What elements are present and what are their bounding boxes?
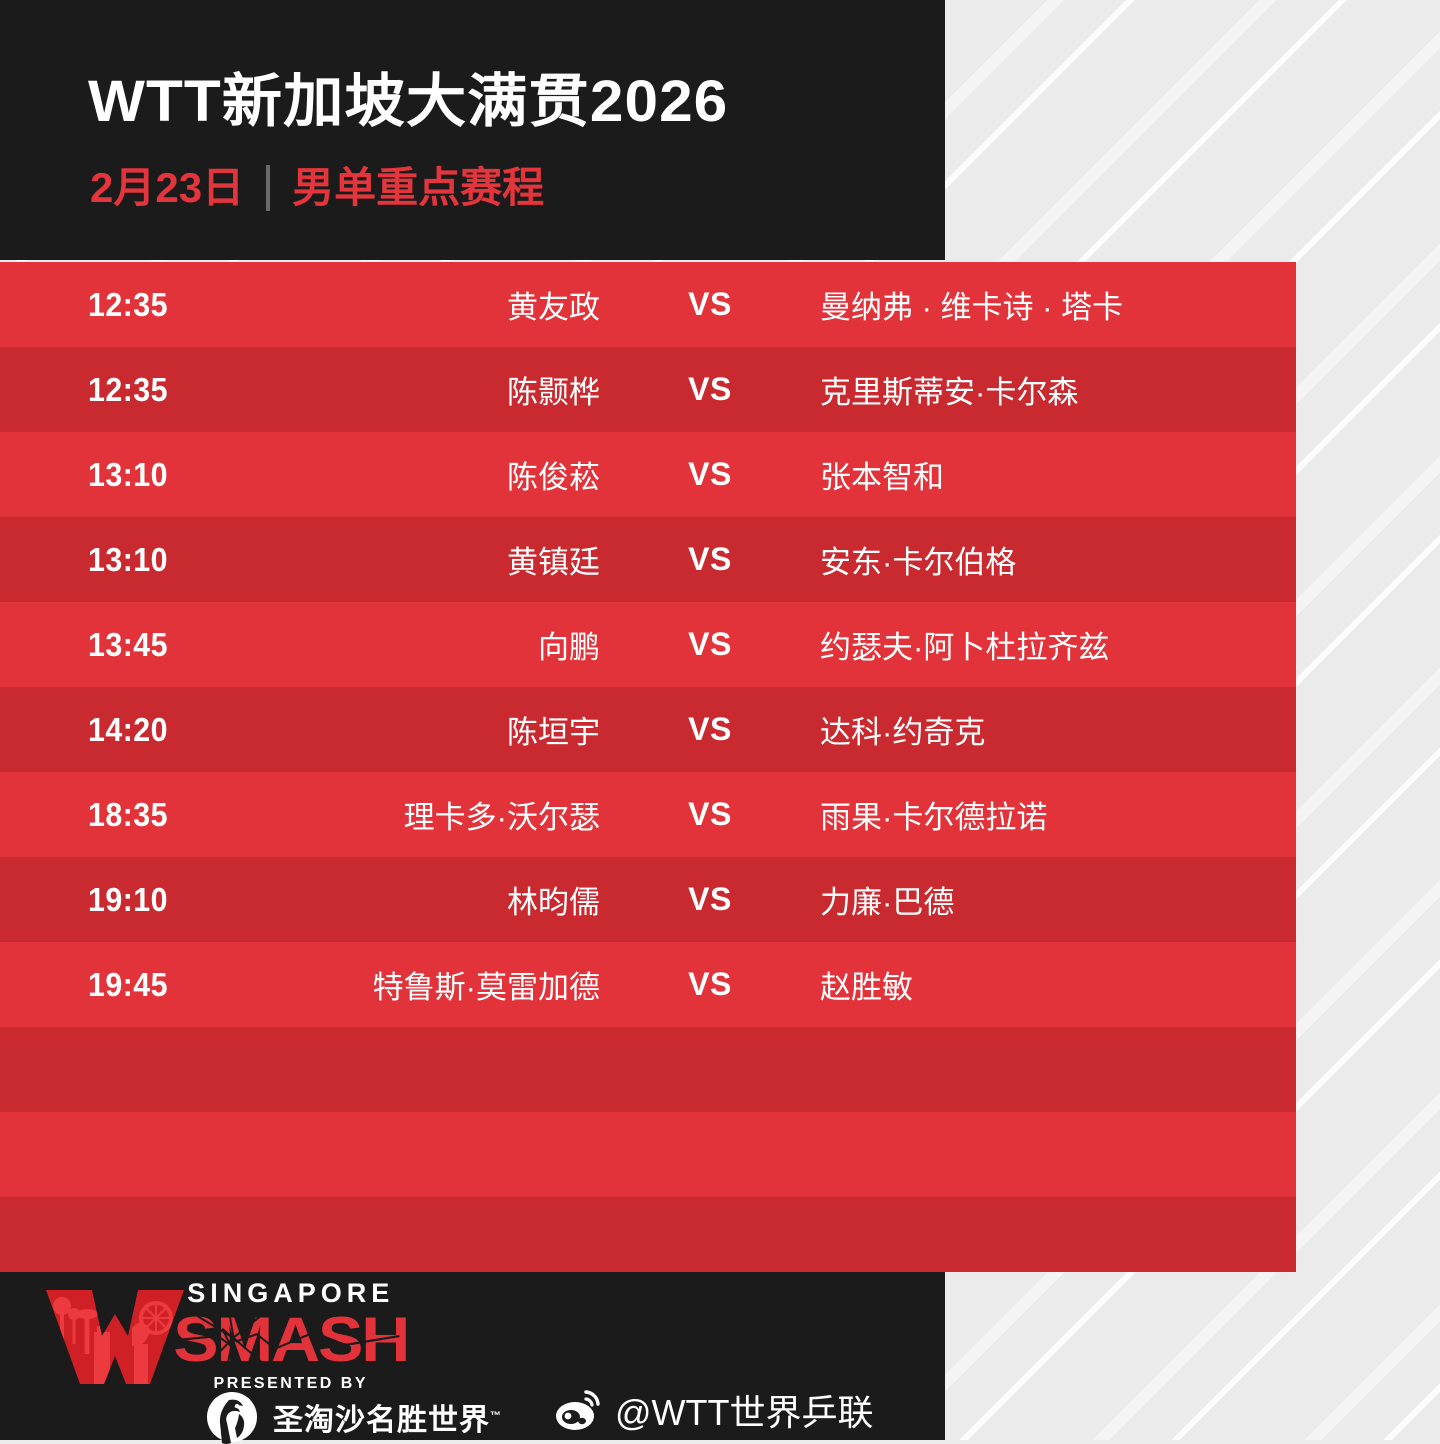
- versus-label: VS: [660, 796, 760, 833]
- schedule-panel: 12:35黄友政VS曼纳弗 · 维卡诗 · 塔卡12:35陈颢桦VS克里斯蒂安·…: [0, 262, 1296, 1272]
- empty-row: [0, 1112, 1296, 1197]
- section-label: 男单重点赛程: [292, 167, 544, 209]
- subtitle-row: 2月23日 男单重点赛程: [90, 165, 544, 211]
- empty-row: [0, 1027, 1296, 1112]
- match-row: 13:10黄镇廷VS安东·卡尔伯格: [0, 517, 1296, 602]
- sponsor-name-text: 圣淘沙名胜世界: [273, 1404, 490, 1437]
- sponsor-name: 圣淘沙名胜世界™: [273, 1395, 502, 1439]
- player-one-name: 黄友政: [200, 282, 600, 327]
- weibo-account[interactable]: @WTT世界乒联: [555, 1384, 874, 1436]
- player-two-name: 张本智和: [820, 452, 1290, 497]
- match-time: 13:10: [88, 541, 168, 579]
- versus-label: VS: [660, 881, 760, 918]
- versus-label: VS: [660, 711, 760, 748]
- player-two-name: 约瑟夫·阿卜杜拉齐兹: [820, 622, 1290, 667]
- header-banner: WTT新加坡大满贯2026 2月23日 男单重点赛程: [0, 0, 945, 260]
- versus-label: VS: [660, 456, 760, 493]
- player-one-name: 向鹏: [200, 622, 600, 667]
- player-two-name: 克里斯蒂安·卡尔森: [820, 367, 1290, 412]
- versus-label: VS: [660, 286, 760, 323]
- match-row: 12:35黄友政VS曼纳弗 · 维卡诗 · 塔卡: [0, 262, 1296, 347]
- merlion-icon: [205, 1390, 259, 1444]
- match-row: 19:45特鲁斯·莫雷加德VS赵胜敏: [0, 942, 1296, 1027]
- sponsor-logo: 圣淘沙名胜世界™: [205, 1390, 502, 1444]
- versus-label: VS: [660, 541, 760, 578]
- versus-label: VS: [660, 626, 760, 663]
- match-time: 13:10: [88, 456, 168, 494]
- player-one-name: 林昀儒: [200, 877, 600, 922]
- subtitle-divider: [266, 165, 270, 211]
- match-row: 13:10陈俊菘VS张本智和: [0, 432, 1296, 517]
- match-row: 12:35陈颢桦VS克里斯蒂安·卡尔森: [0, 347, 1296, 432]
- player-one-name: 陈俊菘: [200, 452, 600, 497]
- match-time: 18:35: [88, 796, 168, 834]
- player-two-name: 安东·卡尔伯格: [820, 537, 1290, 582]
- versus-label: VS: [660, 966, 760, 1003]
- player-two-name: 赵胜敏: [820, 962, 1290, 1007]
- match-row: 13:45向鹏VS约瑟夫·阿卜杜拉齐兹: [0, 602, 1296, 687]
- weibo-icon: [555, 1388, 603, 1432]
- player-two-name: 曼纳弗 · 维卡诗 · 塔卡: [820, 282, 1290, 327]
- event-date: 2月23日: [90, 167, 244, 209]
- match-list: 12:35黄友政VS曼纳弗 · 维卡诗 · 塔卡12:35陈颢桦VS克里斯蒂安·…: [0, 262, 1296, 1272]
- match-time: 12:35: [88, 286, 168, 324]
- singapore-label: SINGAPORE: [187, 1280, 394, 1307]
- match-row: 14:20陈垣宇VS达科·约奇克: [0, 687, 1296, 772]
- versus-label: VS: [660, 371, 760, 408]
- player-one-name: 理卡多·沃尔瑟: [200, 792, 600, 837]
- wtt-w-skyline-icon: [40, 1284, 190, 1389]
- match-time: 14:20: [88, 711, 168, 749]
- empty-row: [0, 1197, 1296, 1272]
- match-row: 18:35理卡多·沃尔瑟VS雨果·卡尔德拉诺: [0, 772, 1296, 857]
- match-time: 12:35: [88, 371, 168, 409]
- player-one-name: 陈颢桦: [200, 367, 600, 412]
- player-one-name: 黄镇廷: [200, 537, 600, 582]
- trademark-symbol: ™: [490, 1410, 502, 1422]
- player-one-name: 特鲁斯·莫雷加德: [200, 962, 600, 1007]
- page-title: WTT新加坡大满贯2026: [88, 70, 728, 134]
- match-row: 19:10林昀儒VS力廉·巴德: [0, 857, 1296, 942]
- player-one-name: 陈垣宇: [200, 707, 600, 752]
- player-two-name: 力廉·巴德: [820, 877, 1290, 922]
- weibo-handle-text: @WTT世界乒联: [615, 1384, 874, 1436]
- player-two-name: 雨果·卡尔德拉诺: [820, 792, 1290, 837]
- smash-wordmark: SINGAPORE SMASH PRESENTED BY: [182, 1280, 400, 1392]
- player-two-name: 达科·约奇克: [820, 707, 1290, 752]
- smash-label-wrap: SMASH: [182, 1309, 400, 1372]
- singapore-smash-logo: SINGAPORE SMASH PRESENTED BY: [40, 1280, 400, 1392]
- match-time: 13:45: [88, 626, 168, 664]
- match-time: 19:45: [88, 966, 168, 1004]
- smash-label: SMASH: [173, 1309, 408, 1372]
- match-time: 19:10: [88, 881, 168, 919]
